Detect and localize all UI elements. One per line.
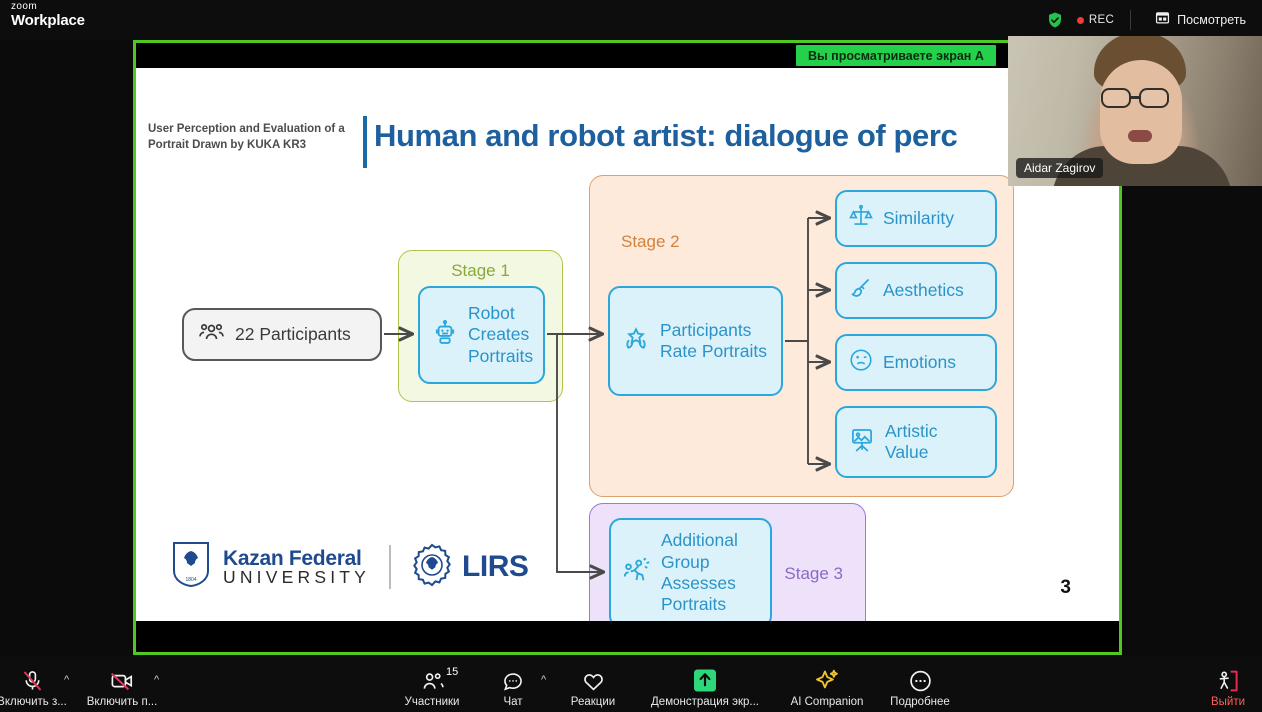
balance-scales-icon	[848, 203, 874, 234]
video-participant-name: Aidar Zagirov	[1016, 158, 1103, 178]
sparkle-icon	[814, 667, 840, 693]
zoom-logo-line2: Workplace	[11, 13, 85, 29]
criteria-artistic-value-label: Artistic Value	[885, 421, 984, 464]
participants-node-label: 22 Participants	[235, 324, 351, 345]
toolbar-more-label: Подробнее	[890, 696, 950, 708]
criteria-similarity-label: Similarity	[883, 208, 954, 229]
lirs-label: LIRS	[462, 550, 528, 584]
recording-indicator[interactable]: REC	[1077, 14, 1114, 26]
calendar-view-icon	[1155, 10, 1170, 30]
leave-door-icon	[1215, 667, 1241, 693]
criteria-similarity: Similarity	[835, 190, 997, 247]
stage3-node-label: Additional Group Assesses Portraits	[661, 530, 759, 615]
top-bar-right-controls: REC Посмотреть	[1046, 0, 1254, 40]
top-bar-divider	[1130, 10, 1131, 30]
toolbar-unmute-label: Включить з...	[0, 696, 67, 708]
slide-title: Human and robot artist: dialogue of perc	[374, 118, 957, 154]
stage1-node-label: Robot Creates Portraits	[468, 303, 533, 367]
stage1-label: Stage 1	[399, 261, 562, 281]
video-face	[1100, 60, 1182, 164]
stage3-label: Stage 3	[784, 564, 843, 584]
lirs-gear-icon	[410, 543, 454, 592]
robot-icon	[431, 319, 459, 352]
workflow-diagram: Stage 2 Stage 1 Stage 3	[136, 168, 1119, 588]
toolbar-start-video-button[interactable]: Включить п...	[67, 667, 177, 708]
meeting-toolbar: Включить з... ^ Включить п... ^ Участник…	[0, 657, 1262, 712]
toolbar-participants-label: Участники	[405, 696, 460, 708]
criteria-emotions-label: Emotions	[883, 352, 956, 373]
sad-face-icon	[848, 347, 874, 378]
kfu-wordmark: Kazan Federal UNIVERSITY	[223, 548, 370, 587]
criteria-aesthetics: Aesthetics	[835, 262, 997, 319]
shared-screen-frame: Вы просматриваете экран A User Perceptio…	[133, 40, 1122, 655]
toolbar-share-screen-label: Демонстрация экр...	[651, 696, 759, 708]
participants-node: 22 Participants	[182, 308, 382, 361]
paint-brush-icon	[848, 275, 874, 306]
criteria-aesthetics-label: Aesthetics	[883, 280, 964, 301]
stage2-node-label: Participants Rate Portraits	[660, 320, 770, 363]
video-glasses-left	[1101, 88, 1131, 108]
zoom-meeting-window: zoom Workplace REC Посмотреть Вы про	[0, 0, 1262, 712]
toolbar-ai-companion-label: AI Companion	[791, 696, 864, 708]
stage3-node: Additional Group Assesses Portraits	[609, 518, 772, 621]
criteria-emotions: Emotions	[835, 334, 997, 391]
slide-title-divider	[363, 116, 367, 168]
presentation-slide: User Perception and Evaluation of a Port…	[136, 68, 1119, 621]
participants-count-badge: 15	[446, 666, 458, 678]
screen-share-banner-text: Вы просматриваете экран A	[808, 49, 984, 63]
zoom-logo-line1: zoom	[11, 2, 85, 13]
kfu-line1: Kazan Federal	[223, 548, 370, 569]
view-layout-button[interactable]: Посмотреть	[1147, 6, 1254, 34]
laurel-star-icon	[621, 324, 651, 359]
toolbar-start-video-label: Включить п...	[87, 696, 158, 708]
stage2-label: Stage 2	[621, 232, 680, 252]
kfu-shield-crest-icon: 1804	[171, 541, 211, 593]
stage1-node: Robot Creates Portraits	[418, 286, 545, 384]
screen-share-banner: Вы просматриваете экран A	[796, 45, 996, 66]
svg-text:1804: 1804	[185, 577, 196, 583]
toolbar-reactions-button[interactable]: Реакции	[538, 667, 648, 708]
share-screen-up-arrow-icon	[692, 667, 718, 693]
slide-footer-logos: 1804 Kazan Federal UNIVERSITY LIRS	[171, 541, 528, 593]
zoom-logo: zoom Workplace	[11, 2, 85, 28]
video-tile-participant[interactable]: Aidar Zagirov	[1008, 36, 1262, 186]
toolbar-reactions-label: Реакции	[571, 696, 615, 708]
toolbar-more-button[interactable]: Подробнее	[865, 667, 975, 708]
toolbar-leave-label: Выйти	[1211, 696, 1245, 708]
heart-icon	[581, 667, 606, 693]
logo-divider	[389, 545, 391, 589]
shield-check-icon[interactable]	[1046, 11, 1064, 29]
criteria-artistic-value: Artistic Value	[835, 406, 997, 478]
recording-label: REC	[1089, 14, 1114, 26]
chat-bubble-icon	[501, 667, 525, 693]
kfu-line2: UNIVERSITY	[223, 569, 370, 587]
video-glasses-bridge	[1131, 96, 1141, 99]
top-bar: zoom Workplace REC Посмотреть	[0, 0, 1262, 40]
group-of-people-icon	[198, 319, 225, 351]
video-glasses-right	[1139, 88, 1169, 108]
microphone-muted-icon	[21, 667, 44, 693]
record-dot-icon	[1077, 17, 1084, 24]
people-running-icon	[622, 556, 652, 591]
picture-easel-icon	[848, 426, 876, 459]
video-mouth	[1128, 130, 1152, 142]
ellipsis-circle-icon	[908, 667, 933, 693]
participants-icon	[420, 667, 445, 693]
stage2-node: Participants Rate Portraits	[608, 286, 783, 396]
view-layout-label: Посмотреть	[1177, 13, 1246, 27]
camera-muted-icon	[109, 667, 135, 693]
slide-page-number: 3	[1060, 577, 1071, 599]
slide-letterbox-bottom	[136, 621, 1119, 652]
toolbar-leave-button[interactable]: Выйти	[1173, 667, 1262, 708]
toolbar-share-screen-button[interactable]: Демонстрация экр...	[650, 667, 760, 708]
video-caret-icon[interactable]: ^	[154, 674, 159, 686]
toolbar-chat-label: Чат	[503, 696, 522, 708]
slide-subtitle: User Perception and Evaluation of a Port…	[148, 121, 360, 154]
